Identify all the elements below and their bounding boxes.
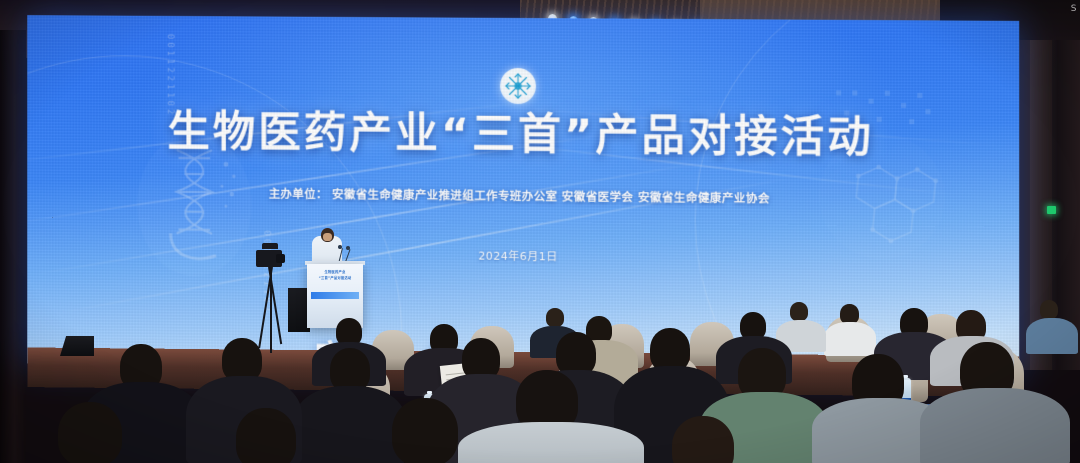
presenter-face [323, 233, 332, 241]
attendee-shoulders [1026, 318, 1078, 354]
podium-title-line2: “三首”产品对接活动 [310, 276, 360, 281]
attendee-head [392, 398, 458, 463]
attendee-head [1040, 300, 1058, 319]
exit-sign-icon [1047, 206, 1056, 214]
corner-watermark: S [1071, 4, 1077, 14]
binary-decor-text: 0011221102 [165, 34, 175, 118]
conference-photo-scene: 0011221102 0011221102 0011221102 0011221… [0, 0, 1080, 463]
page-title: 生物医药产业“三首”产品对接活动 [27, 110, 1019, 161]
audience-seating-area: 安徽省生命健康产业“三首”产品对接活动 谢栋栋 [0, 286, 1080, 463]
attendee-head [58, 402, 122, 463]
podium-title-line1: 生物医药产业 [310, 270, 360, 275]
attendee-head [840, 304, 859, 324]
attendee-shoulders [920, 388, 1070, 463]
attendee-head [546, 308, 564, 327]
microphone-head [346, 246, 350, 250]
camera-hood [262, 243, 278, 249]
attendee-shoulders [458, 422, 644, 463]
attendee-head [236, 408, 296, 463]
attendee-shoulders [824, 322, 876, 356]
microphone-head [338, 245, 342, 249]
camera-lens-icon [276, 254, 285, 263]
attendee-head [790, 302, 808, 321]
molecule-icon [796, 80, 969, 273]
event-logo-emblem [500, 68, 536, 104]
attendee-shoulders [294, 386, 406, 463]
snowflake-emblem-icon [503, 71, 533, 101]
